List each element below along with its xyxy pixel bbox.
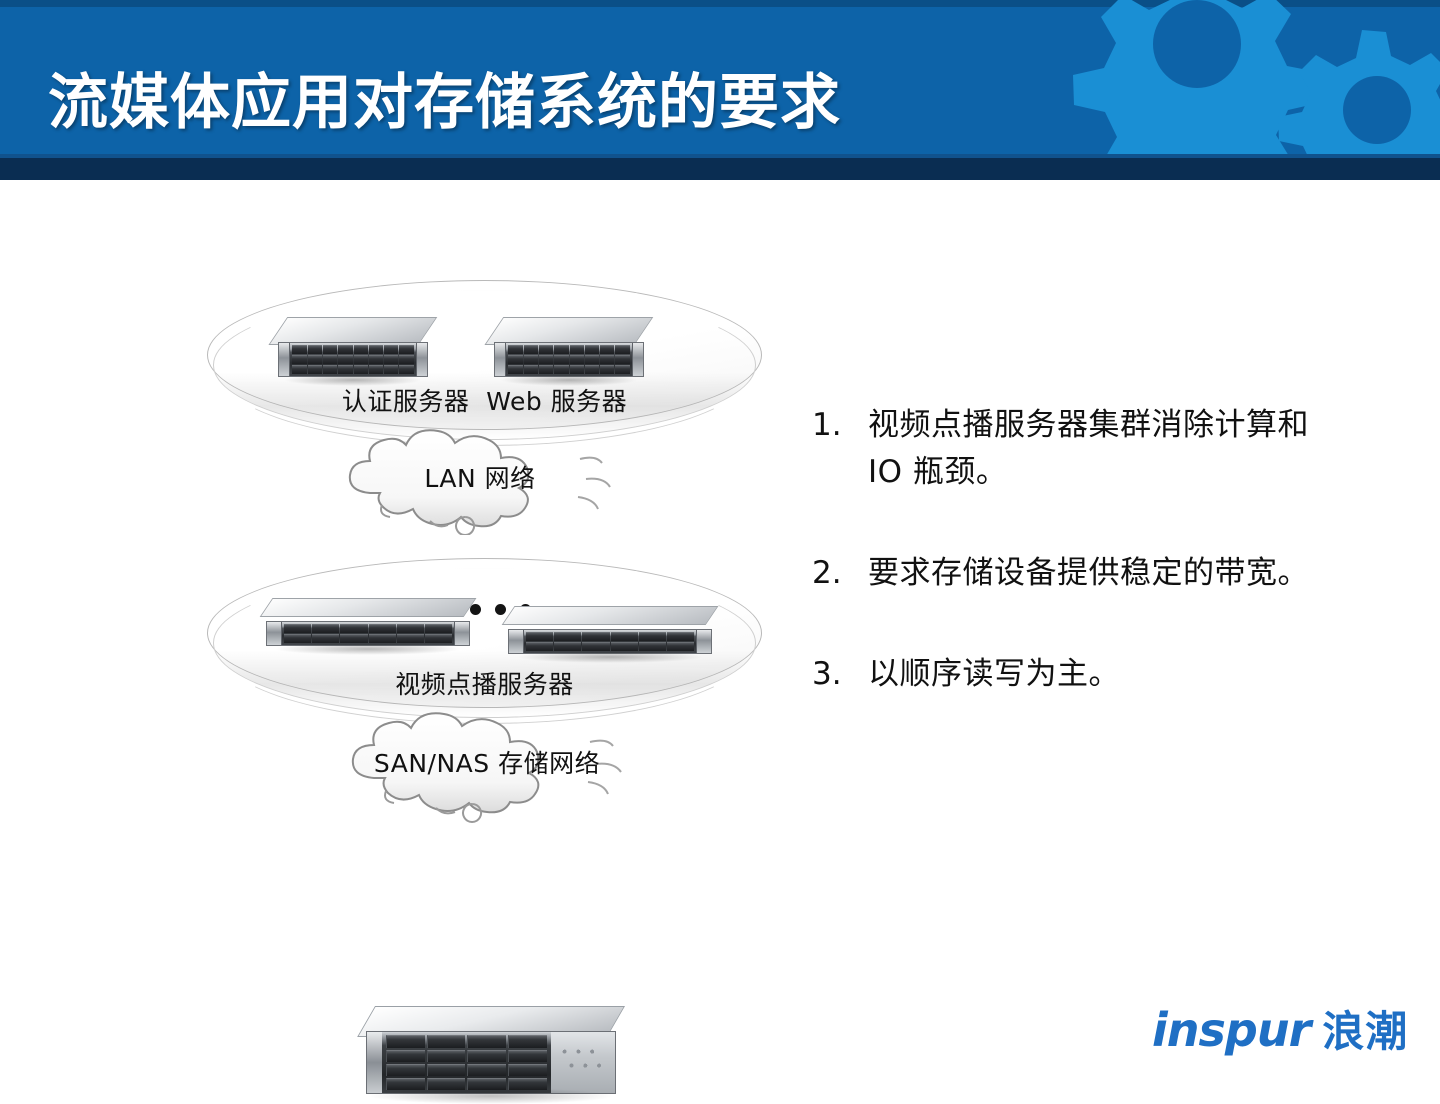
server-rack-ear-right: [696, 630, 711, 653]
header-top-strip: [0, 0, 1440, 7]
server-front-panel: [278, 342, 428, 377]
page-title: 流媒体应用对存储系统的要求: [48, 54, 841, 141]
san-cloud-label: SAN/NAS 存储网络: [332, 744, 642, 780]
list-item-text: 视频点播服务器集群消除计算和 IO 瓶颈。: [868, 402, 1338, 496]
logo-latin-text: inspur: [1152, 1003, 1310, 1057]
list-item: 3. 以顺序读写为主。: [812, 651, 1392, 698]
server-shadow: [274, 643, 462, 655]
server-rack-ear-left: [279, 343, 290, 376]
list-item-number: 2.: [812, 550, 868, 597]
server-vod-1: [266, 598, 470, 646]
header-bottom-strip: [0, 158, 1440, 180]
server-rack-ear-left: [495, 343, 506, 376]
server-rack-ear-right: [632, 343, 643, 376]
san-cloud: SAN/NAS 存储网络: [332, 708, 642, 823]
list-item-number: 3.: [812, 651, 868, 698]
lan-cloud-label: LAN 网络: [330, 459, 630, 495]
storage-array: [366, 1006, 616, 1098]
server-drive-bays: [290, 343, 415, 376]
server-drive-bays: [506, 343, 631, 376]
slide-root: 流媒体应用对存储系统的要求: [0, 0, 1440, 1080]
array-shadow: [371, 1088, 611, 1104]
server-chassis-top: [485, 317, 654, 345]
tier-app-label: 认证服务器 Web 服务器: [207, 382, 762, 418]
server-vod-n: [508, 606, 712, 654]
server-rack-ear-right: [454, 622, 469, 645]
server-chassis-top: [260, 598, 477, 617]
server-chassis-top: [502, 606, 719, 625]
server-chassis-top: [269, 317, 438, 345]
server-rack-ear-left: [267, 622, 282, 645]
list-item-text: 要求存储设备提供稳定的带宽。: [868, 550, 1338, 597]
inspur-logo: inspur 浪潮: [1152, 998, 1408, 1059]
array-drive-bays: [382, 1032, 551, 1093]
server-web: [494, 317, 644, 377]
list-item-text: 以顺序读写为主。: [868, 651, 1392, 698]
server-rack-ear-right: [416, 343, 427, 376]
server-drive-bays: [282, 622, 454, 645]
logo-chinese-text: 浪潮: [1322, 998, 1408, 1059]
array-side-panel: [551, 1032, 615, 1093]
server-rack-ear-left: [509, 630, 524, 653]
slide-header: 流媒体应用对存储系统的要求: [0, 0, 1440, 180]
server-drive-bays: [524, 630, 696, 653]
list-item: 2. 要求存储设备提供稳定的带宽。: [812, 550, 1392, 597]
gears-decoration-icon: [1010, 0, 1440, 160]
lan-cloud: LAN 网络: [330, 425, 630, 535]
requirements-list: 1. 视频点播服务器集群消除计算和 IO 瓶颈。 2. 要求存储设备提供稳定的带…: [812, 402, 1392, 752]
server-shadow: [516, 651, 704, 663]
array-rack-ear-left: [367, 1032, 382, 1093]
list-item-number: 1.: [812, 402, 868, 449]
array-front-panel: [366, 1031, 616, 1094]
server-auth: [278, 317, 428, 377]
architecture-diagram: 认证服务器 Web 服务器 LAN 网络: [0, 180, 790, 1020]
list-item: 1. 视频点播服务器集群消除计算和 IO 瓶颈。: [812, 402, 1392, 496]
tier-vod-label: 视频点播服务器: [207, 665, 762, 701]
server-front-panel: [494, 342, 644, 377]
